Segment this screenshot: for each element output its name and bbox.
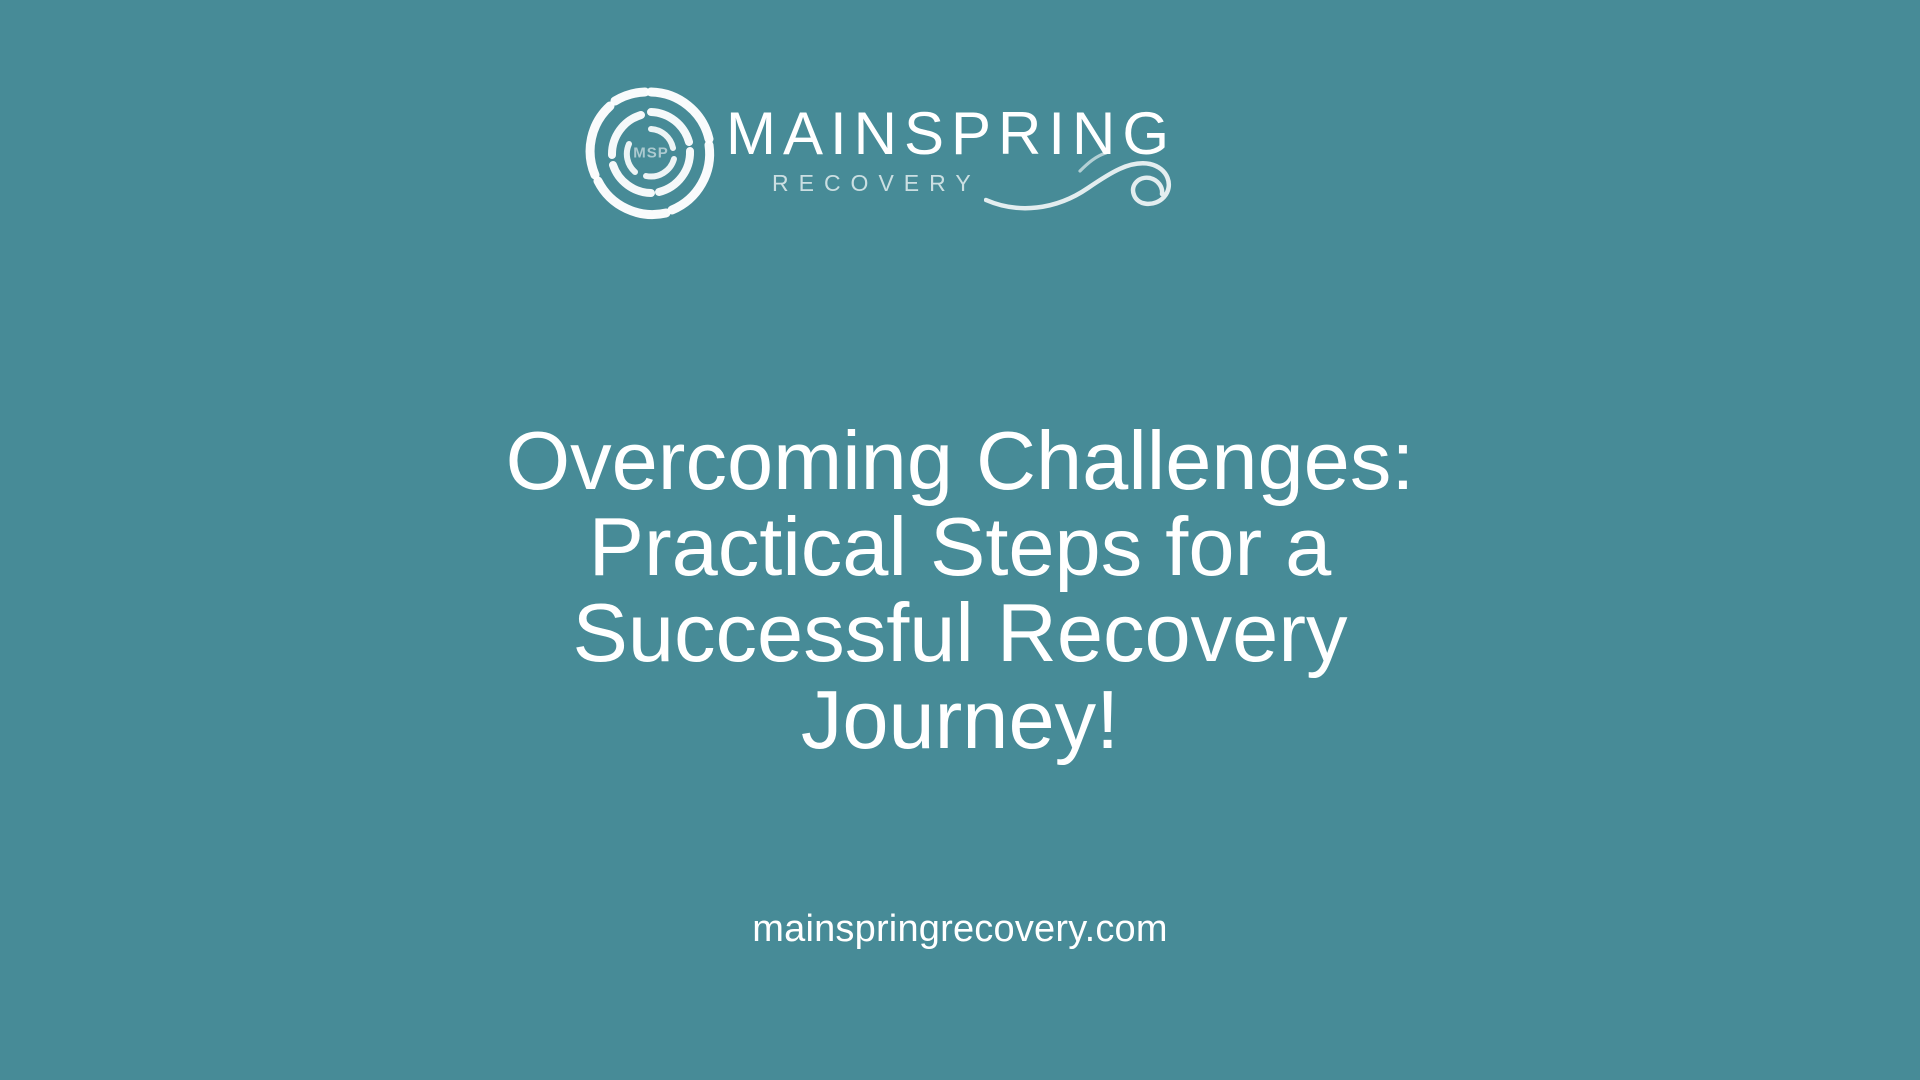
headline-line-2: Practical Steps for a <box>310 504 1610 590</box>
headline-line-3: Successful Recovery <box>310 590 1610 676</box>
logo-subword-row: RECOVERY <box>726 170 1340 212</box>
brand-logo-lockup: MSP MAINSPRING RECOVERY <box>580 78 1340 238</box>
logo-monogram: MSP <box>580 146 722 161</box>
headline-line-4: Journey! <box>310 677 1610 763</box>
spiral-vortex-icon: MSP <box>580 82 722 224</box>
swirl-flourish-icon <box>984 144 1194 222</box>
logo-text-block: MAINSPRING RECOVERY <box>726 78 1340 212</box>
website-url[interactable]: mainspringrecovery.com <box>752 908 1168 951</box>
title-card-slide: MSP MAINSPRING RECOVERY Overcoming Chall… <box>0 0 1920 1080</box>
headline-line-1: Overcoming Challenges: <box>310 418 1610 504</box>
page-title: Overcoming Challenges: Practical Steps f… <box>310 418 1610 763</box>
logo-subword: RECOVERY <box>772 172 981 195</box>
